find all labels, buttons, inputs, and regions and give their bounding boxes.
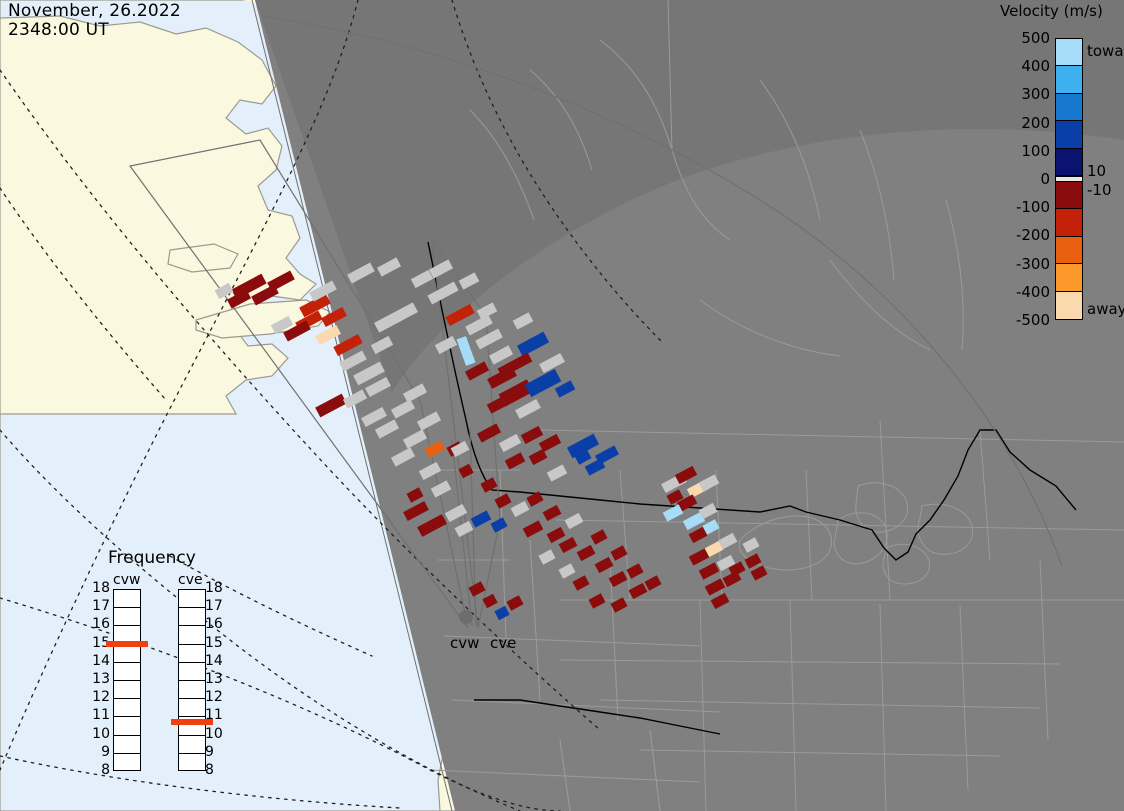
gauge-tick (179, 608, 205, 626)
radar-site-label-cve: cve (490, 634, 516, 652)
colorbar-inner-neg-label: -10 (1087, 181, 1112, 199)
colorbar-band-450 (1056, 39, 1082, 66)
timestamp-header: November, 26.2022 2348:00 UT (8, 2, 181, 40)
gauge-label-cve-12: 12 (205, 689, 227, 705)
colorbar-tick-500: 500 (998, 29, 1050, 47)
radar-site-layer (0, 0, 1124, 811)
frequency-title: Frequency (108, 548, 196, 568)
gauge-label-cve-10: 10 (205, 726, 227, 742)
gauge-label-cve-18: 18 (205, 580, 227, 596)
gauge-name-cve: cve (178, 572, 203, 588)
colorbar-tick--500: -500 (998, 311, 1050, 329)
gauge-tick (179, 590, 205, 608)
colorbar-band-350 (1056, 66, 1082, 93)
colorbar-away-label: away (1087, 300, 1124, 318)
gauge-label-cvw-12: 12 (88, 689, 110, 705)
gauge-label-cvw-14: 14 (88, 653, 110, 669)
gauge-label-cve-9: 9 (205, 744, 227, 760)
gauge-tick (114, 681, 140, 699)
colorbar-band--450 (1056, 292, 1082, 319)
gauge-label-cve-16: 16 (205, 616, 227, 632)
radar-site-label-cvw: cvw (450, 634, 479, 652)
colorbar-title: Velocity (m/s) (1000, 2, 1103, 20)
gauge-tick (179, 736, 205, 754)
colorbar-band--150 (1056, 209, 1082, 236)
gauge-label-cvw-18: 18 (88, 580, 110, 596)
gauge-tick (114, 645, 140, 663)
gauge-tick (179, 663, 205, 681)
radar-map-figure: November, 26.2022 2348:00 UT cvw cve Vel… (0, 0, 1124, 811)
colorbar-band-250 (1056, 94, 1082, 121)
gauge-label-cve-13: 13 (205, 671, 227, 687)
header-date: November, 26.2022 (8, 1, 181, 21)
gauge-label-cve-14: 14 (205, 653, 227, 669)
gauge-tick (179, 645, 205, 663)
gauge-label-cvw-13: 13 (88, 671, 110, 687)
gauge-tick (179, 626, 205, 644)
gauge-tick (114, 736, 140, 754)
gauge-tick (179, 681, 205, 699)
gauge-tick (114, 663, 140, 681)
colorbar-tick--300: -300 (998, 255, 1050, 273)
colorbar-band-150 (1056, 121, 1082, 148)
colorbar-tick-200: 200 (998, 114, 1050, 132)
gauge-label-cve-8: 8 (205, 762, 227, 778)
gauge-tick (114, 717, 140, 735)
colorbar-tick-400: 400 (998, 57, 1050, 75)
colorbar-tick--100: -100 (998, 198, 1050, 216)
gauge-tick (179, 754, 205, 772)
gauge-name-cvw: cvw (113, 572, 140, 588)
frequency-marker-cve (171, 719, 213, 725)
gauge-label-cve-17: 17 (205, 598, 227, 614)
gauge-label-cvw-9: 9 (88, 744, 110, 760)
gauge-label-cvw-11: 11 (88, 707, 110, 723)
colorbar-tick-100: 100 (998, 142, 1050, 160)
gauge-tick (114, 608, 140, 626)
gauge-label-cvw-8: 8 (88, 762, 110, 778)
gauge-tick (179, 699, 205, 717)
gauge-tick (114, 699, 140, 717)
colorbar-inner-pos-label: 10 (1087, 162, 1106, 180)
gauge-label-cvw-17: 17 (88, 598, 110, 614)
gauge-label-cve-15: 15 (205, 635, 227, 651)
colorbar-tick--200: -200 (998, 226, 1050, 244)
colorbar-tick-0: 0 (998, 170, 1050, 188)
colorbar-toward-label: toward (1087, 42, 1124, 60)
frequency-marker-cvw (106, 641, 148, 647)
gauge-label-cvw-10: 10 (88, 726, 110, 742)
colorbar-band--50 (1056, 182, 1082, 209)
colorbar-band-50 (1056, 149, 1082, 176)
radar-origin-marker (459, 610, 473, 624)
colorbar-tick--400: -400 (998, 283, 1050, 301)
frequency-gauge-cvw[interactable] (113, 589, 141, 771)
frequency-gauge-cve[interactable] (178, 589, 206, 771)
header-time: 2348:00 UT (8, 20, 109, 40)
colorbar-tick-300: 300 (998, 85, 1050, 103)
colorbar-band--350 (1056, 264, 1082, 291)
colorbar-band--250 (1056, 237, 1082, 264)
gauge-tick (114, 754, 140, 772)
gauge-label-cvw-16: 16 (88, 616, 110, 632)
velocity-colorbar[interactable] (1055, 38, 1083, 320)
gauge-tick (114, 590, 140, 608)
